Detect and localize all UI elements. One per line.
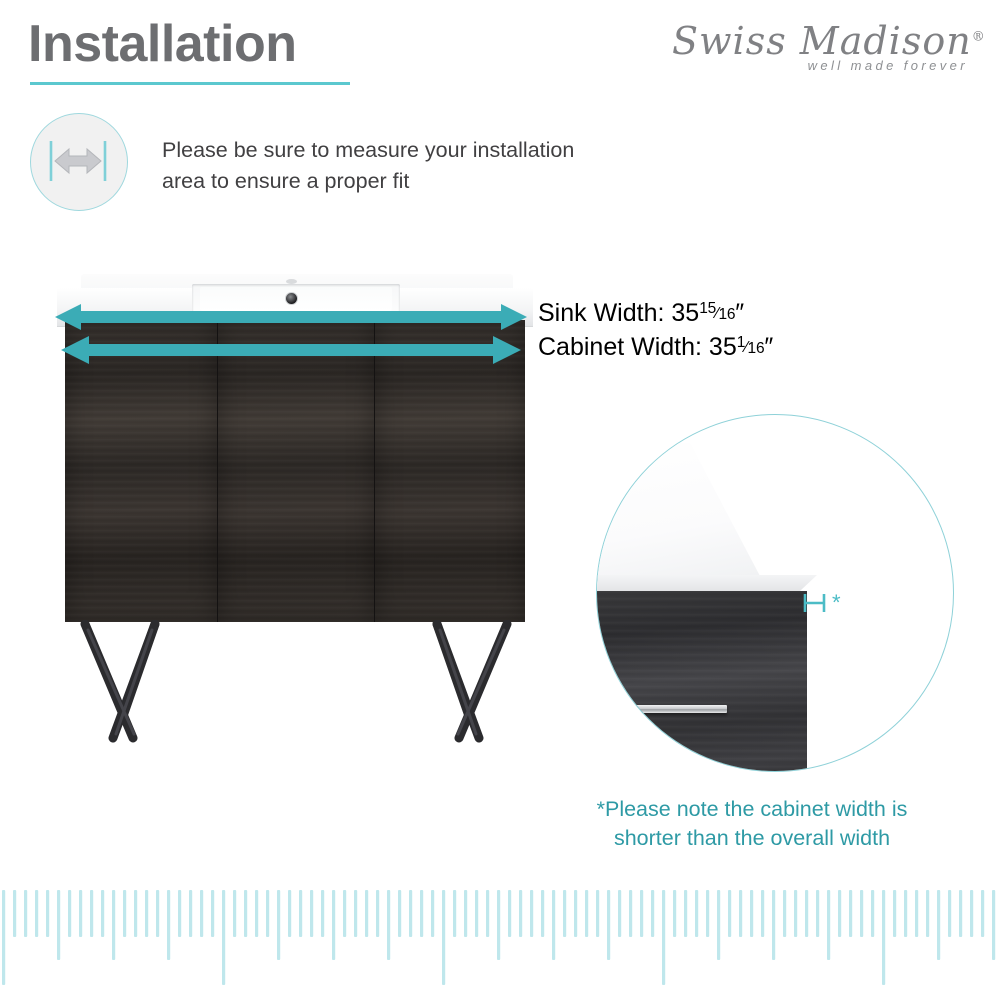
- brand-name: Swiss Madison: [672, 19, 972, 63]
- fraction-numerator: 15: [699, 300, 716, 317]
- fraction-denominator: 16: [748, 340, 765, 357]
- cabinet-width-value: 35: [709, 333, 737, 361]
- cabinet-width-text: Cabinet Width:: [538, 333, 702, 361]
- dimension-labels: Sink Width: 3515⁄16″ Cabinet Width: 351⁄…: [538, 296, 773, 364]
- cabinet-width-unit: ″: [764, 333, 773, 361]
- footnote-note: *Please note the cabinet width is shorte…: [552, 795, 952, 853]
- double-headed-arrow-icon: [61, 334, 521, 366]
- vanity-illustration: [55, 262, 535, 762]
- sink-width-fraction: 15⁄16: [699, 298, 735, 325]
- vanity-legs: [55, 620, 535, 750]
- cabinet-width-fraction: 1⁄16: [737, 332, 765, 359]
- footnote-line-2: shorter than the overall width: [552, 824, 952, 853]
- fraction-numerator: 1: [737, 334, 745, 351]
- fraction-denominator: 16: [718, 306, 735, 323]
- detail-cabinet-corner: [596, 591, 807, 772]
- hairpin-legs-icon: [55, 620, 535, 750]
- page-title: Installation: [28, 18, 296, 70]
- footnote-line-1: *Please note the cabinet width is: [552, 795, 952, 824]
- brand-logo: Swiss Madison® well made forever: [672, 22, 972, 73]
- ruler-ticks-icon: [0, 880, 1000, 1000]
- measure-note-text: Please be sure to measure your installat…: [162, 135, 592, 196]
- sink-width-unit: ″: [735, 299, 744, 327]
- horizontal-double-arrow-icon: [31, 114, 125, 208]
- detail-door-handle: [596, 705, 727, 713]
- registered-mark-icon: ®: [972, 29, 986, 44]
- sink-width-value: 35: [671, 299, 699, 327]
- cabinet-width-label: Cabinet Width: 351⁄16″: [538, 330, 773, 364]
- sink-width-text: Sink Width:: [538, 299, 664, 327]
- cabinet-width-arrow: [61, 334, 521, 366]
- sink-width-label: Sink Width: 3515⁄16″: [538, 296, 773, 330]
- double-headed-arrow-icon: [55, 302, 527, 332]
- sink-width-arrow: [55, 302, 527, 332]
- installation-guide-page: Installation Swiss Madison® well made fo…: [0, 0, 1000, 1000]
- detail-countertop-edge: [596, 443, 829, 591]
- title-underline: [30, 82, 350, 85]
- detail-asterisk: *: [832, 591, 841, 615]
- measure-width-icon: [30, 113, 128, 211]
- ruler-decoration: [0, 880, 1000, 1000]
- width-offset-marker-icon: *: [802, 591, 856, 615]
- faucet-hole: [286, 279, 297, 284]
- detail-zoom-circle: *: [596, 414, 954, 772]
- brand-wordmark: Swiss Madison®: [672, 22, 972, 62]
- detail-offset-marker: *: [802, 591, 856, 615]
